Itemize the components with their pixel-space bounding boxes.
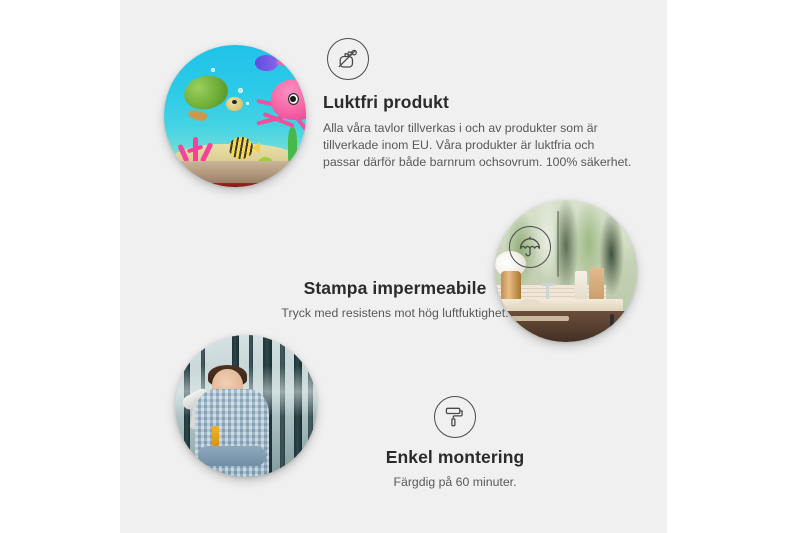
product-feature-banner: Luktfri produkt Alla våra tavlor tillver… bbox=[0, 0, 800, 533]
feature-odourless: Luktfri produkt Alla våra tavlor tillver… bbox=[323, 38, 633, 172]
yellow-fish-icon bbox=[229, 137, 253, 158]
feature-title: Luktfri produkt bbox=[323, 92, 633, 113]
bubble-icon bbox=[211, 68, 215, 72]
cabinet-handle bbox=[610, 314, 614, 337]
turtle-shell bbox=[181, 72, 231, 114]
photo-painter-forest bbox=[175, 335, 317, 477]
seaweed-icon bbox=[288, 127, 298, 164]
forest-scene bbox=[175, 335, 317, 477]
feature-body: Alla våra tavlor tillverkas i och av pro… bbox=[323, 120, 633, 172]
content-canvas: Luktfri produkt Alla våra tavlor tillver… bbox=[120, 0, 667, 533]
no-fragrance-icon bbox=[327, 38, 369, 80]
coral-branch bbox=[178, 143, 190, 162]
cabinet-handle bbox=[626, 314, 630, 337]
turtle-icon bbox=[184, 76, 241, 119]
yellow-tool bbox=[212, 426, 219, 446]
feature-assembly: Enkel montering Färgdig på 60 minuter. bbox=[325, 396, 585, 491]
room-floor bbox=[164, 161, 306, 187]
octopus-icon bbox=[255, 79, 306, 141]
feature-title: Stampa impermeabile bbox=[215, 278, 575, 299]
umbrella-icon bbox=[509, 226, 551, 268]
red-sofa bbox=[195, 183, 275, 187]
feature-body: Färgdig på 60 minuter. bbox=[325, 474, 585, 491]
blue-fish-icon bbox=[255, 55, 278, 71]
person-arms bbox=[198, 446, 266, 466]
ocean-scene bbox=[164, 45, 306, 187]
paint-roller-icon bbox=[434, 396, 476, 438]
feature-title: Enkel montering bbox=[325, 447, 585, 468]
feature-body: Tryck med resistens mot hög luftfuktighe… bbox=[215, 305, 575, 322]
photo-ocean-mural bbox=[164, 45, 306, 187]
feature-waterproof: Stampa impermeabile Tryck med resistens … bbox=[215, 226, 575, 322]
